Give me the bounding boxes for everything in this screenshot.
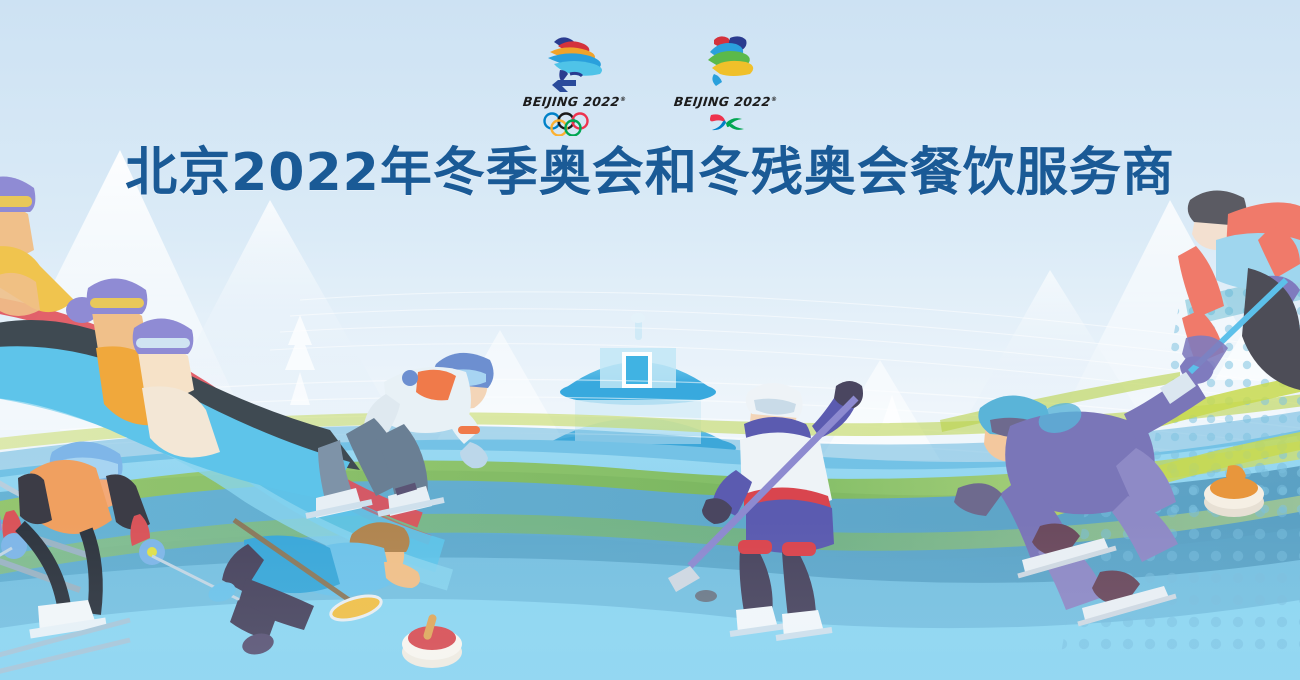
speed-skater-white-figure — [306, 353, 494, 518]
paralympic-wordmark: BEIJING 2022® — [673, 94, 778, 109]
olympic-wordmark: BEIJING 2022® — [522, 94, 627, 109]
paralympic-logo: BEIJING 2022® — [674, 30, 777, 134]
page-title-wrap: 北京2022年冬季奥会和冬残奥会餐饮服务商 — [0, 143, 1300, 203]
beijing-2022-winter-paralympics-emblem — [684, 30, 768, 92]
olympic-logo: BEIJING 2022® — [523, 30, 626, 136]
paralympic-agitos-icon — [697, 112, 755, 134]
logo-row: BEIJING 2022® — [0, 30, 1300, 136]
page-title: 北京2022年冬季奥会和冬残奥会餐饮服务商 — [125, 143, 1175, 203]
olympic-rings-icon — [541, 112, 607, 136]
curling-stone-orange — [1204, 465, 1264, 517]
curler-delivering-figure — [1160, 190, 1300, 517]
olympic-banner: BEIJING 2022® — [0, 0, 1300, 680]
beijing-2022-winter-olympics-emblem — [532, 30, 616, 92]
